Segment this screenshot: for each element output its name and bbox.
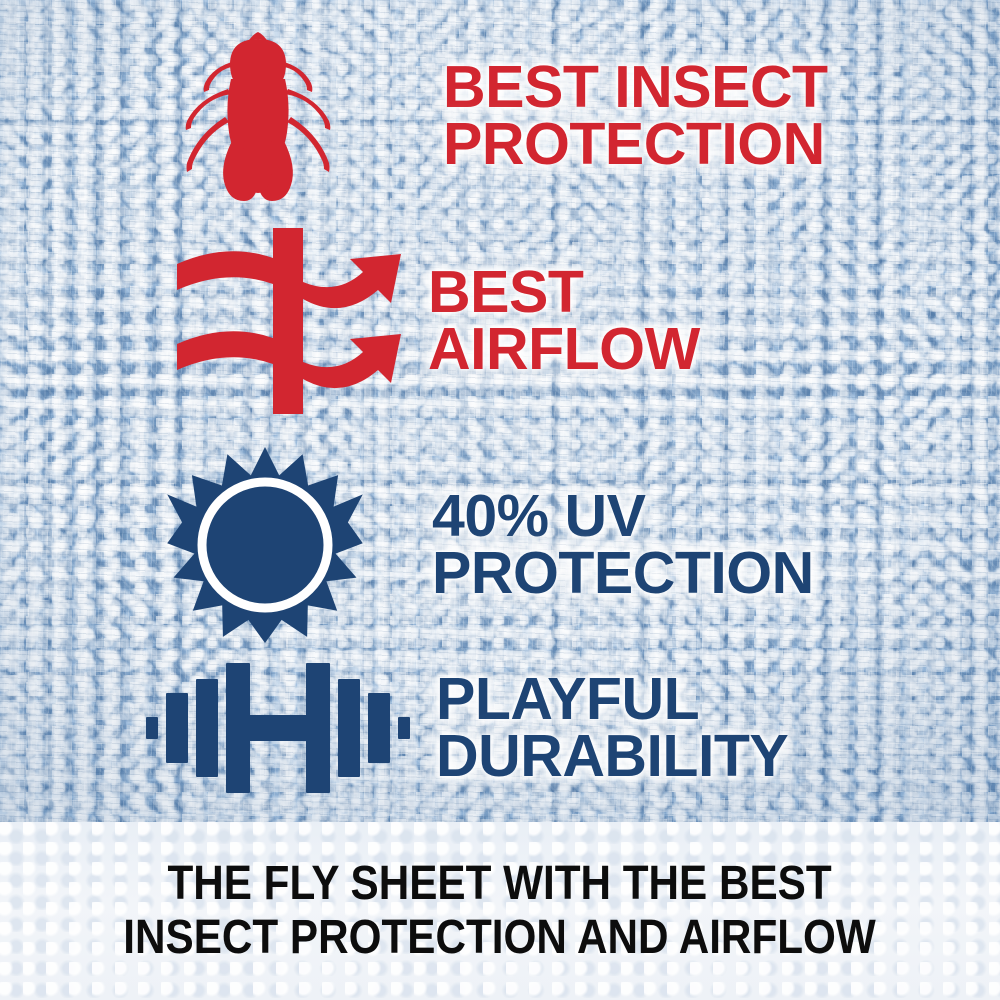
bottom-banner: THE FLY SHEET WITH THE BEST INSECT PROTE… bbox=[0, 822, 1000, 1000]
fly-icon bbox=[150, 21, 365, 211]
feature-label-airflow: BEST AIRFLOW bbox=[428, 264, 700, 377]
feature-row-durability: PLAYFUL DURABILITY bbox=[128, 645, 988, 810]
feature-row-insect-protection: BEST INSECT PROTECTION bbox=[150, 18, 990, 213]
feature-label-uv-protection: 40% UV PROTECTION bbox=[432, 488, 814, 601]
feature-row-airflow: BEST AIRFLOW bbox=[140, 218, 980, 423]
banner-headline: THE FLY SHEET WITH THE BEST INSECT PROTE… bbox=[124, 857, 876, 965]
product-feature-poster: BEST INSECT PROTECTION bbox=[0, 0, 1000, 1000]
sun-icon bbox=[150, 445, 380, 645]
feature-label-insect-protection: BEST INSECT PROTECTION bbox=[443, 59, 828, 172]
feature-row-uv-protection: 40% UV PROTECTION bbox=[150, 437, 990, 652]
dumbbell-icon bbox=[128, 653, 428, 803]
airflow-arrows-icon bbox=[140, 226, 420, 416]
feature-list: BEST INSECT PROTECTION bbox=[0, 0, 1000, 822]
feature-label-durability: PLAYFUL DURABILITY bbox=[436, 671, 788, 784]
